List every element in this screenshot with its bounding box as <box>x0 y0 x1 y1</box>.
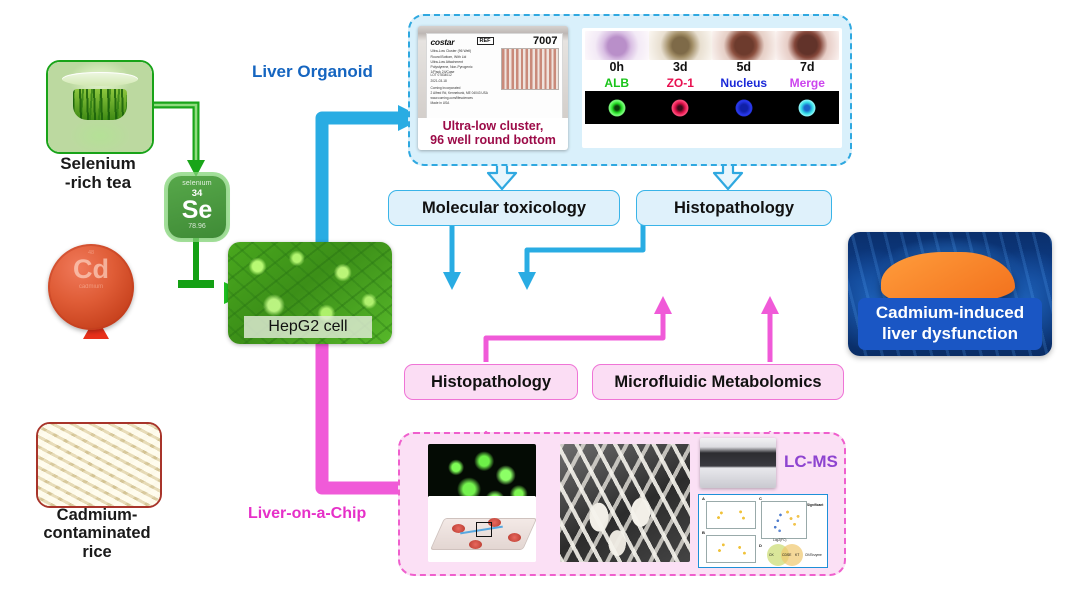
chip-well <box>469 540 482 549</box>
outcome-line1: Cadmium-induced <box>858 303 1042 323</box>
output-box-microfluidic-metabolomics[interactable]: Microfluidic Metabolomics <box>592 364 844 400</box>
arrow-organoid-to-histopathology <box>714 163 742 189</box>
plate-lot-label: LOT <box>431 73 437 77</box>
cadmium-rice-caption: Cadmium- contaminated rice <box>14 506 180 561</box>
venn-label-ck: CK <box>769 553 774 557</box>
organoid-histology-0h <box>585 31 649 60</box>
organoid-blob <box>608 99 625 116</box>
outcome-card: Cadmium-induced liver dysfunction <box>848 232 1052 356</box>
rice-photo <box>38 424 160 506</box>
organoid-histology-5d <box>712 31 776 60</box>
selenium-name: selenium <box>168 180 226 187</box>
organoid-timepoint-cell: 7d <box>776 31 840 75</box>
plot-panel-a-label: A <box>702 496 705 501</box>
output-label-microfluidic-metabolomics: Microfluidic Metabolomics <box>614 373 821 392</box>
chip-roi-box <box>476 522 492 537</box>
lcms-label: LC-MS <box>784 452 838 472</box>
fluorescence-label-zo1: ZO-1 <box>667 76 694 90</box>
plate-caption-line1: Ultra-low cluster, <box>418 120 568 134</box>
liver-organ-shape <box>881 252 1016 304</box>
tubing-strands <box>560 444 690 562</box>
cadmium-element-coin: 48 Cd cadmium <box>48 244 134 330</box>
venn-label-kt: KT <box>795 553 799 557</box>
fluorescence-image-zo1 <box>649 91 713 124</box>
organoid-image-grid: 0h 3d 5d 7d ALB ZO-1 Nucleus <box>582 28 842 148</box>
organoid-fluorescence-cell: ALB <box>585 75 649 124</box>
organoid-blob <box>799 99 816 116</box>
ultra-low-cluster-plate: costar REF 7007 Ultra-Low Cluster (96 We… <box>418 26 568 150</box>
organoid-blob <box>672 99 689 116</box>
tea-cup-photo <box>48 62 152 152</box>
plate-caption-line2: 96 well round bottom <box>418 134 568 148</box>
plate-address: Corning Incorporated 2 Alfred Rd, Kenneb… <box>431 86 497 107</box>
selenium-tea-caption: Selenium -rich tea <box>24 154 172 192</box>
rice-caption-line3: rice <box>14 543 180 561</box>
organoid-fluorescence-cell: ZO-1 <box>649 75 713 124</box>
fluorescence-label-merge: Merge <box>790 76 825 90</box>
arrow-rice-to-cadmium <box>83 316 109 424</box>
organoid-fluorescence-cell: Nucleus <box>712 75 776 124</box>
metabolomics-plots-figure: A B C Log2(FC) Significant D CK CDSE KT … <box>698 494 828 568</box>
volcano-plot <box>761 501 807 539</box>
chip-well <box>508 533 521 542</box>
tea-caption-line2: -rich tea <box>24 173 172 192</box>
selenium-symbol: Se <box>168 198 226 224</box>
organoid-histology-7d <box>776 31 840 60</box>
fluorescence-label-nucleus: Nucleus <box>720 76 767 90</box>
pca-plot-a <box>706 501 756 529</box>
fluorescence-image-alb <box>585 91 649 124</box>
rice-caption-line1: Cadmium- <box>14 506 180 524</box>
output-label-histopathology-chip: Histopathology <box>431 373 551 392</box>
cadmium-symbol: Cd <box>48 256 134 283</box>
rice-caption-line2: contaminated <box>14 524 180 542</box>
selenium-tea-image <box>46 60 154 154</box>
organoid-histology-3d <box>649 31 713 60</box>
volcano-xlabel: Log2(FC) <box>773 538 786 542</box>
microfluidic-device-tubing <box>560 444 690 562</box>
plate-well-array <box>501 48 559 90</box>
chip-schematic-image <box>428 496 536 562</box>
organoid-timepoint-row: 0h 3d 5d 7d <box>585 31 839 75</box>
route-label-liver-on-a-chip: Liver-on-a-Chip <box>248 505 366 523</box>
tea-caption-line1: Selenium <box>24 154 172 173</box>
outcome-caption: Cadmium-induced liver dysfunction <box>858 298 1042 350</box>
route-label-liver-organoid: Liver Organoid <box>252 62 373 82</box>
lcms-instrument-image <box>700 438 776 488</box>
hepg2-cell-card: HepG2 cell <box>228 242 392 344</box>
fluorescence-image-nucleus <box>712 91 776 124</box>
plot-panel-d-label: D <box>759 543 762 548</box>
organoid-timepoint-label: 0h <box>609 60 624 74</box>
plot-panel-b-label: B <box>702 530 705 535</box>
plate-caption: Ultra-low cluster, 96 well round bottom <box>418 118 568 150</box>
output-label-molecular-toxicology: Molecular toxicology <box>422 199 586 218</box>
cadmium-rice-image <box>36 422 162 508</box>
venn-caption: CK/Enzyme <box>805 553 822 557</box>
venn-label-cdse: CDSE <box>782 553 791 557</box>
connector-molecular-toxicology-to-main <box>443 224 461 290</box>
organoid-timepoint-cell: 0h <box>585 31 649 75</box>
venn-diagram: CK CDSE KT CK/Enzyme <box>765 543 821 567</box>
connector-histopathology-blue-to-main <box>518 224 643 290</box>
organoid-blob <box>735 99 752 116</box>
hepg2-cell-label: HepG2 cell <box>244 316 372 338</box>
inhibition-selenium-to-cadmium <box>178 238 214 284</box>
output-box-histopathology-organoid[interactable]: Histopathology <box>636 190 832 226</box>
plate-brand: costar <box>431 37 455 47</box>
organoid-timepoint-label: 7d <box>800 60 815 74</box>
plate-lot-date: 2021-03-18 <box>431 79 447 83</box>
selenium-element-tile: selenium 34 Se 78.96 <box>168 176 226 238</box>
fluorescence-label-alb: ALB <box>604 76 629 90</box>
plate-fine-print: Ultra-Low Cluster (96 Well) Round Bottom… <box>431 49 485 75</box>
output-box-histopathology-chip[interactable]: Histopathology <box>404 364 578 400</box>
organoid-timepoint-cell: 5d <box>712 31 776 75</box>
microfluidic-chip-schematic <box>428 496 536 562</box>
organoid-timepoint-cell: 3d <box>649 31 713 75</box>
volcano-legend-title: Significant <box>807 503 823 507</box>
organoid-fluorescence-cell: Merge <box>776 75 840 124</box>
organoid-fluorescence-row: ALB ZO-1 Nucleus Merge <box>585 75 839 124</box>
selenium-atomic-mass: 78.96 <box>168 223 226 230</box>
cadmium-name: cadmium <box>48 284 134 290</box>
organoid-timepoint-label: 3d <box>673 60 688 74</box>
output-box-molecular-toxicology[interactable]: Molecular toxicology <box>388 190 620 226</box>
outcome-line2: liver dysfunction <box>858 324 1042 344</box>
organoid-timepoint-label: 5d <box>736 60 751 74</box>
plate-catalog-number: 7007 <box>533 35 557 47</box>
fluorescence-image-merge <box>776 91 840 124</box>
output-label-histopathology-organoid: Histopathology <box>674 199 794 218</box>
plate-lot-info: LOT 07834012 2021-03-18 Corning Incorpor… <box>431 73 497 106</box>
plate-lot-number: 07834012 <box>438 73 452 77</box>
cadmium-atomic-number: 48 <box>48 244 134 256</box>
connector-metabolomics-to-main <box>761 296 779 362</box>
pca-plot-b <box>706 535 756 563</box>
connector-histopathology-pink-to-main <box>486 296 672 362</box>
chip-device-photo <box>560 444 690 562</box>
plate-ref-label: REF <box>477 37 494 45</box>
arrow-organoid-to-molecular-toxicology <box>488 163 516 189</box>
